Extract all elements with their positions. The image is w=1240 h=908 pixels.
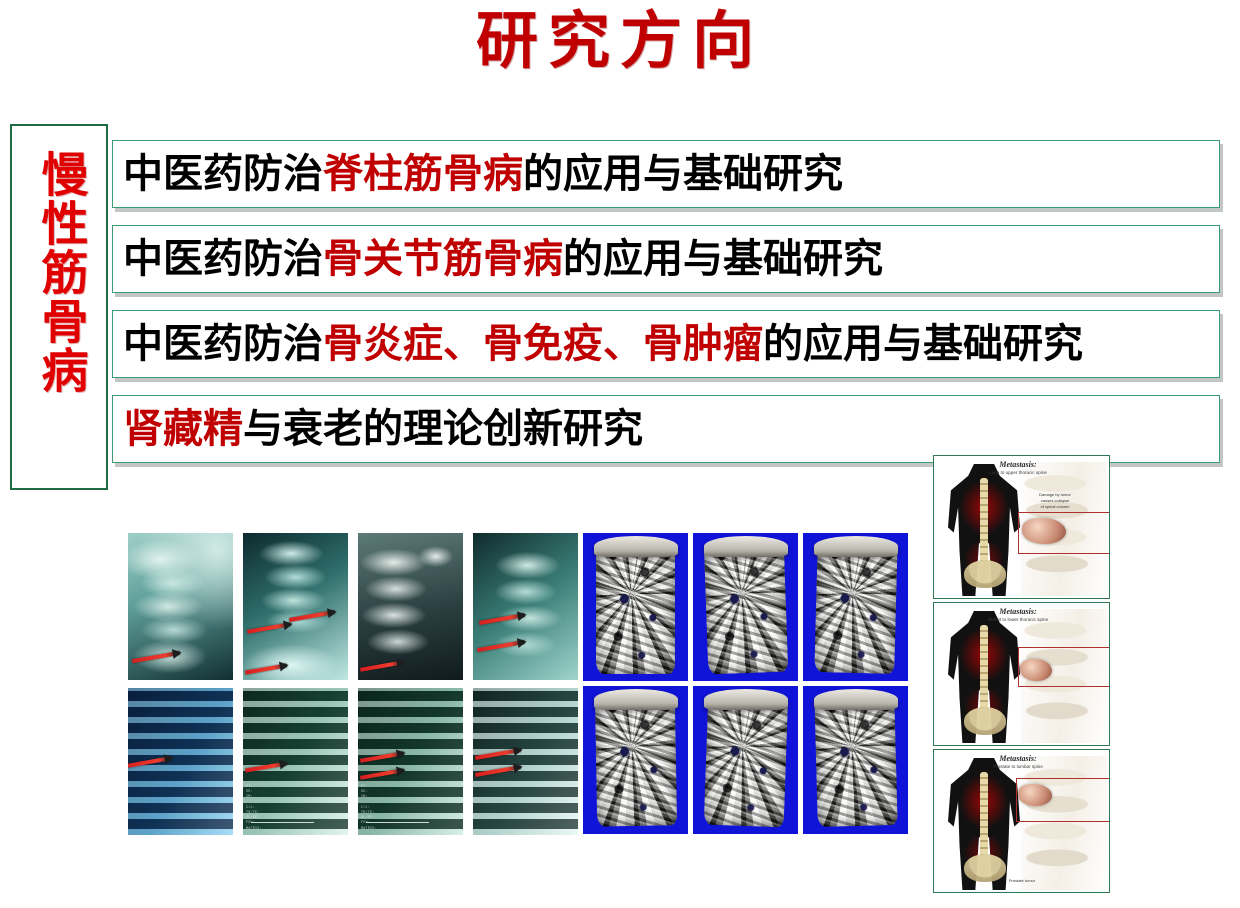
metastasis-panel-lung: Metastasis: Lung to upper thoracic spine… — [933, 455, 1110, 599]
row-1-highlight: 脊柱筋骨病 — [323, 151, 523, 196]
research-direction-row-1[interactable]: 中医药防治脊柱筋骨病的应用与基础研究 — [112, 140, 1220, 208]
prostate-tumor-label: Prostate tumor — [992, 878, 1052, 884]
row-3-prefix: 中医药防治 — [123, 321, 323, 366]
mri-tile — [473, 688, 578, 835]
mri-tile: PT: SE: IM: C/L: TR/TE: SL/SP: FOV: MATR… — [358, 688, 463, 835]
highlight-box — [1018, 647, 1110, 687]
metastasis-subtitle: Breast to lower thoracic spine — [988, 617, 1048, 622]
row-2-suffix: 的应用与基础研究 — [563, 236, 883, 281]
row-3-highlight: 骨炎症、骨免疫、骨肿瘤 — [323, 321, 763, 366]
row-3-suffix: 的应用与基础研究 — [763, 321, 1083, 366]
row-4-highlight: 肾藏精 — [123, 406, 243, 451]
metastasis-illustration-column: Metastasis: Lung to upper thoracic spine… — [933, 455, 1110, 893]
metastasis-title: Metastasis: — [999, 460, 1036, 469]
microct-tile — [583, 533, 688, 681]
research-direction-text-4: 肾藏精与衰老的理论创新研究 — [113, 409, 643, 449]
pelvis-icon — [964, 707, 1006, 735]
row-4-suffix: 与衰老的理论创新研究 — [243, 406, 643, 451]
row-2-highlight: 骨关节筋骨病 — [323, 236, 563, 281]
microct-tile — [803, 686, 908, 834]
research-direction-text-2: 中医药防治骨关节筋骨病的应用与基础研究 — [113, 239, 883, 279]
metastasis-title: Metastasis: — [999, 607, 1036, 616]
microct-tile — [693, 686, 798, 834]
xray-tile — [243, 533, 348, 680]
trabecular-bone-microct-grid — [583, 533, 908, 834]
research-direction-row-2[interactable]: 中医药防治骨关节筋骨病的应用与基础研究 — [112, 225, 1220, 293]
page-title: 研究方向 — [0, 4, 1240, 82]
xray-tile — [473, 533, 578, 680]
metastasis-panel-prostate: Metastasis: Prostate to lumbar spine Pro… — [933, 749, 1110, 893]
research-direction-text-3: 中医药防治骨炎症、骨免疫、骨肿瘤的应用与基础研究 — [113, 324, 1083, 364]
cervical-spine-xray-mri-grid: PT: SE: IM: C/L: TR/TE: SL/SP: FOV: MATR… — [128, 533, 578, 835]
highlight-box — [1018, 512, 1110, 554]
pelvis-icon — [964, 560, 1006, 588]
metastasis-title: Metastasis: — [999, 754, 1036, 763]
metastasis-subtitle: Lung to upper thoracic spine — [989, 470, 1047, 475]
row-1-prefix: 中医药防治 — [123, 151, 323, 196]
metastasis-subtitle: Prostate to lumbar spine — [993, 764, 1043, 769]
category-box: 慢性筋骨病 — [10, 124, 108, 490]
xray-tile — [358, 533, 463, 680]
research-direction-text-1: 中医药防治脊柱筋骨病的应用与基础研究 — [113, 154, 843, 194]
microct-tile — [693, 533, 798, 681]
dicom-overlay: PT: SE: IM: C/L: TR/TE: SL/SP: FOV: MATR… — [361, 785, 437, 832]
category-label: 慢性筋骨病 — [35, 150, 84, 395]
microct-tile — [803, 533, 908, 681]
xray-tile — [128, 533, 233, 680]
microct-tile — [583, 686, 688, 834]
row-2-prefix: 中医药防治 — [123, 236, 323, 281]
mri-tile: PT: SE: IM: C/L: TR/TE: SL/SP: FOV: MATR… — [243, 688, 348, 835]
research-direction-row-3[interactable]: 中医药防治骨炎症、骨免疫、骨肿瘤的应用与基础研究 — [112, 310, 1220, 378]
dicom-overlay: PT: SE: IM: C/L: TR/TE: SL/SP: FOV: MATR… — [246, 785, 322, 832]
highlight-box — [1016, 778, 1110, 822]
metastasis-panel-breast: Metastasis: Breast to lower thoracic spi… — [933, 602, 1110, 746]
metastasis-note: Damage by tumor causes collapse of spina… — [1026, 492, 1084, 510]
row-1-suffix: 的应用与基础研究 — [523, 151, 843, 196]
mri-tile — [128, 688, 233, 835]
figure-area: PT: SE: IM: C/L: TR/TE: SL/SP: FOV: MATR… — [0, 450, 1240, 908]
vertebrae-illustration — [1021, 756, 1107, 890]
